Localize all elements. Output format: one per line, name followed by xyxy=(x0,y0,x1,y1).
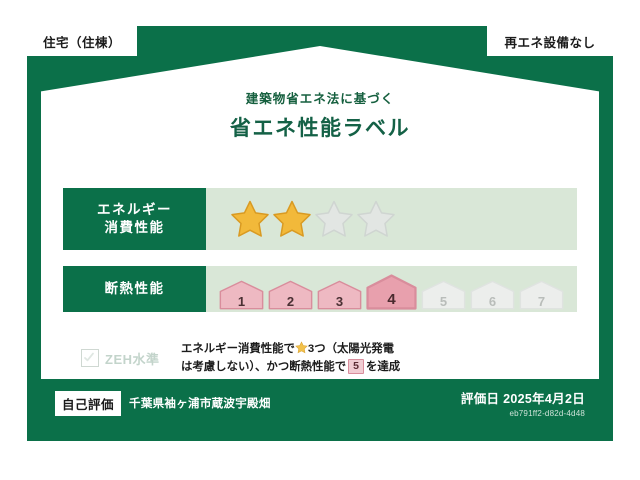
insulation-grade-1: 1 xyxy=(219,280,264,310)
energy-performance-label-line1: エネルギー xyxy=(97,201,172,219)
zeh-description: エネルギー消費性能で3つ（太陽光発電 は考慮しない）、かつ断熱性能で5を達成 xyxy=(175,340,577,377)
star-icon-empty xyxy=(314,199,354,239)
insulation-grade-chip: 5 xyxy=(348,359,364,374)
insulation-grade-scale: 1234567 xyxy=(206,264,564,314)
zeh-note-line1-a: エネルギー消費性能で xyxy=(181,343,295,355)
star-icon-filled xyxy=(230,199,270,239)
self-evaluation-badge: 自己評価 xyxy=(55,391,121,416)
building-type-tag-label: 住宅（住棟） xyxy=(43,32,121,51)
insulation-grade-7: 7 xyxy=(519,280,564,310)
screenshot-canvas: 住宅（住棟） 再エネ設備なし 建築物省エネ法に基づく 省エネ性能ラベル エネルギ… xyxy=(0,0,640,480)
insulation-grade-value: 6 xyxy=(470,295,515,308)
star-icon-filled xyxy=(272,199,312,239)
energy-performance-label: エネルギー 消費性能 xyxy=(63,188,206,250)
insulation-grade-2: 2 xyxy=(268,280,313,310)
renewable-equipment-tag: 再エネ設備なし xyxy=(487,26,613,56)
building-type-tag: 住宅（住棟） xyxy=(27,26,137,56)
zeh-badge: ZEH水準 xyxy=(63,349,175,368)
roof-shape xyxy=(41,46,599,154)
insulation-grade-value: 3 xyxy=(317,295,362,308)
evaluation-date: 評価日 2025年4月2日 xyxy=(461,388,585,407)
insulation-grade-5: 5 xyxy=(421,280,466,310)
insulation-grade-3: 3 xyxy=(317,280,362,310)
insulation-grade-value: 2 xyxy=(268,295,313,308)
insulation-performance-row: 断熱性能 1234567 xyxy=(63,266,577,312)
label-footer: 自己評価 千葉県袖ヶ浦市蔵波宇殿畑 評価日 2025年4月2日 eb791ff2… xyxy=(41,379,599,427)
insulation-performance-value: 1234567 xyxy=(206,266,577,312)
insulation-grade-4: 4 xyxy=(366,274,417,310)
footer-left-group: 自己評価 千葉県袖ヶ浦市蔵波宇殿畑 xyxy=(55,391,271,416)
insulation-performance-label-text: 断熱性能 xyxy=(105,280,165,298)
insulation-grade-value: 1 xyxy=(219,295,264,308)
insulation-grade-value: 4 xyxy=(366,292,417,307)
insulation-grade-6: 6 xyxy=(470,280,515,310)
zeh-note-line2-b: を達成 xyxy=(366,361,400,373)
star-icon-empty xyxy=(356,199,396,239)
zeh-note-line2-a: は考慮しない）、かつ断熱性能で xyxy=(181,361,346,373)
zeh-badge-label: ZEH水準 xyxy=(105,349,160,368)
star-rating xyxy=(206,199,396,239)
insulation-grade-value: 5 xyxy=(421,295,466,308)
renewable-equipment-tag-label: 再エネ設備なし xyxy=(504,32,595,51)
insulation-performance-label: 断熱性能 xyxy=(63,266,206,312)
zeh-note-line1-b: 3つ（太陽光発電 xyxy=(308,343,394,355)
energy-performance-value xyxy=(206,188,577,250)
energy-performance-label-card: 住宅（住棟） 再エネ設備なし 建築物省エネ法に基づく 省エネ性能ラベル エネルギ… xyxy=(27,26,613,441)
energy-performance-row: エネルギー 消費性能 xyxy=(63,188,577,250)
property-address: 千葉県袖ヶ浦市蔵波宇殿畑 xyxy=(129,395,271,411)
energy-performance-label-line2: 消費性能 xyxy=(105,219,165,237)
evaluation-id: eb791ff2-d82d-4d48 xyxy=(461,409,585,418)
insulation-grade-value: 7 xyxy=(519,295,564,308)
footer-right-group: 評価日 2025年4月2日 eb791ff2-d82d-4d48 xyxy=(461,388,585,418)
checkbox-icon xyxy=(81,349,99,367)
star-icon xyxy=(295,341,308,354)
